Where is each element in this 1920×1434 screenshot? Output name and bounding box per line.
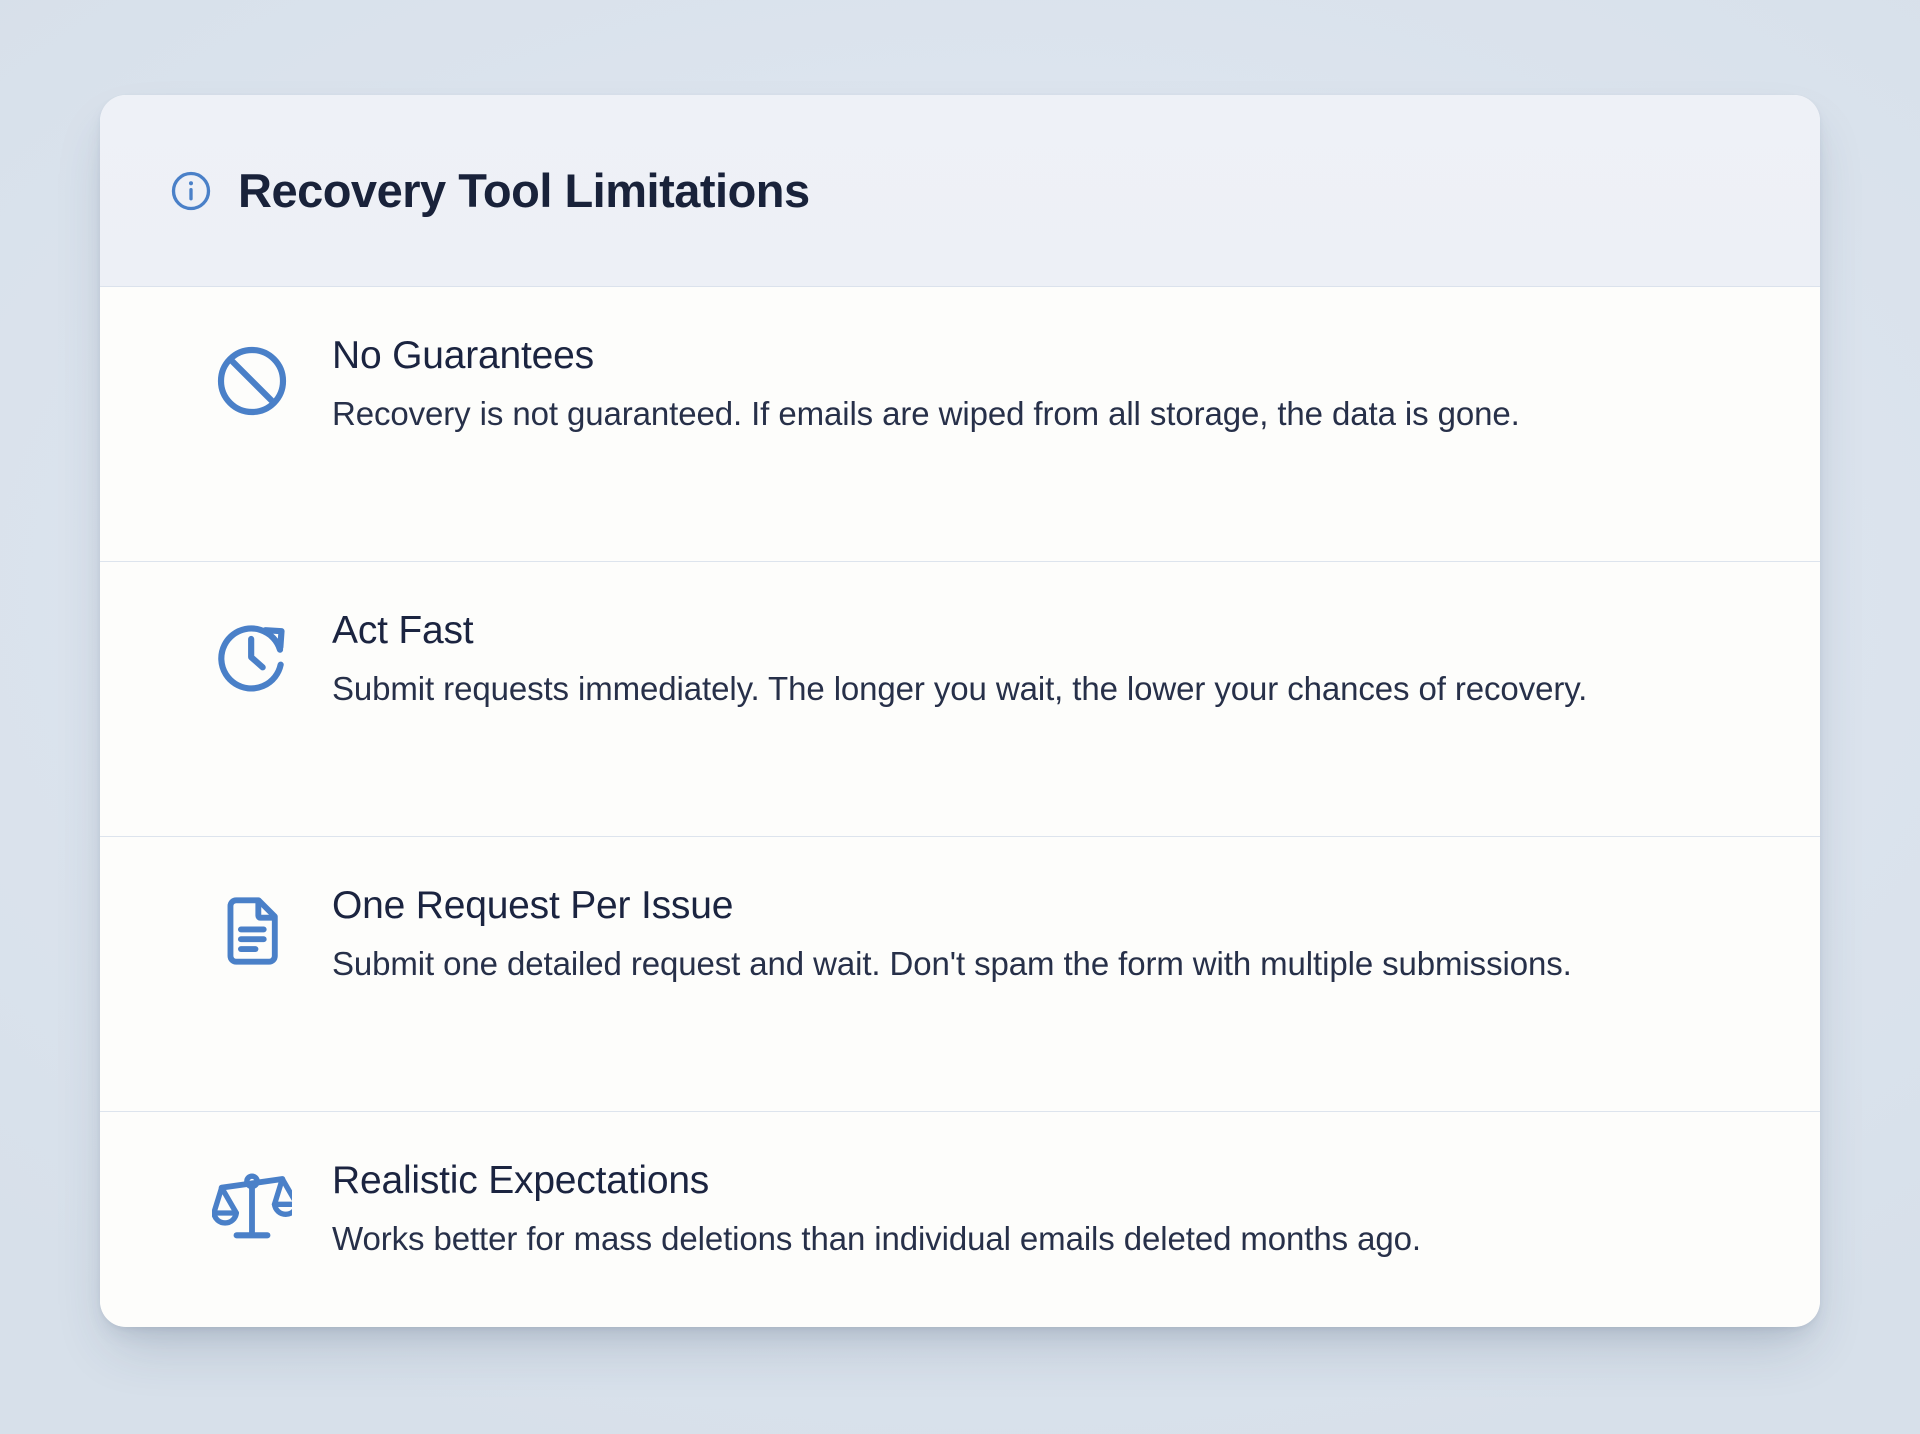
prohibition-icon	[212, 341, 292, 421]
balance-scales-icon	[212, 1166, 292, 1246]
list-item-description: Recovery is not guaranteed. If emails ar…	[332, 391, 1622, 438]
list-item-title: No Guarantees	[332, 333, 1740, 379]
clock-arrow-icon	[212, 616, 292, 696]
list-item-description: Works better for mass deletions than ind…	[332, 1216, 1622, 1263]
list-item-title: Realistic Expectations	[332, 1158, 1740, 1204]
card-header: Recovery Tool Limitations	[100, 95, 1820, 287]
list-item-title: Act Fast	[332, 608, 1740, 654]
page-root: Recovery Tool Limitations No Guarantees …	[0, 0, 1920, 1434]
list-item-description: Submit one detailed request and wait. Do…	[332, 941, 1622, 988]
list-item-body: No Guarantees Recovery is not guaranteed…	[332, 331, 1740, 438]
list-item-title: One Request Per Issue	[332, 883, 1740, 929]
list-item: No Guarantees Recovery is not guaranteed…	[100, 287, 1820, 562]
recovery-tool-limitations-card: Recovery Tool Limitations No Guarantees …	[100, 95, 1820, 1327]
list-item-body: One Request Per Issue Submit one detaile…	[332, 881, 1740, 988]
list-item-body: Act Fast Submit requests immediately. Th…	[332, 606, 1740, 713]
list-item: Realistic Expectations Works better for …	[100, 1112, 1820, 1326]
document-lines-icon	[212, 891, 292, 971]
list-item-body: Realistic Expectations Works better for …	[332, 1156, 1740, 1263]
info-circle-icon	[170, 170, 212, 212]
list-item: Act Fast Submit requests immediately. Th…	[100, 562, 1820, 837]
limitations-list: No Guarantees Recovery is not guaranteed…	[100, 287, 1820, 1327]
list-item-description: Submit requests immediately. The longer …	[332, 666, 1622, 713]
page-title: Recovery Tool Limitations	[238, 165, 810, 217]
list-item: One Request Per Issue Submit one detaile…	[100, 837, 1820, 1112]
